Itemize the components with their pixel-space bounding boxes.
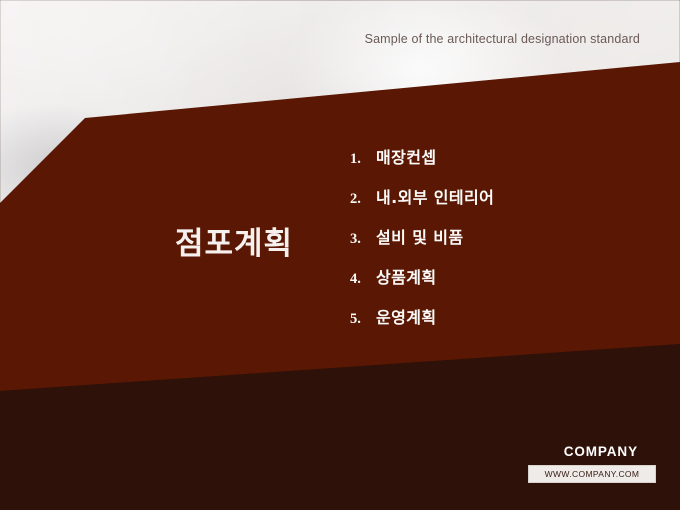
list-item-label: 내.외부 인테리어 <box>376 184 494 208</box>
footer-company-name: COMPANY <box>564 444 638 459</box>
footer-url-text: WWW.COMPANY.COM <box>545 469 640 479</box>
list-item-label: 운영계획 <box>376 304 436 328</box>
list-item-number: 3. <box>350 231 376 248</box>
presentation-slide: Sample of the architectural designation … <box>0 0 680 510</box>
page-title: 점포계획 <box>175 218 293 263</box>
list-item-number: 1. <box>350 151 376 168</box>
list-item[interactable]: 3. 설비 및 비품 <box>350 224 620 264</box>
list-item-number: 2. <box>350 191 376 208</box>
list-item-label: 설비 및 비품 <box>376 224 464 248</box>
list-item[interactable]: 5. 운영계획 <box>350 304 620 344</box>
list-item-label: 매장컨셉 <box>376 144 436 168</box>
agenda-list: 1. 매장컨셉 2. 내.외부 인테리어 3. 설비 및 비품 4. 상품계획 … <box>350 144 620 344</box>
list-item-number: 4. <box>350 271 376 288</box>
list-item[interactable]: 4. 상품계획 <box>350 264 620 304</box>
list-item-number: 5. <box>350 311 376 328</box>
list-item-label: 상품계획 <box>376 264 436 288</box>
list-item[interactable]: 1. 매장컨셉 <box>350 144 620 184</box>
list-item[interactable]: 2. 내.외부 인테리어 <box>350 184 620 224</box>
footer-url-box[interactable]: WWW.COMPANY.COM <box>528 465 656 483</box>
